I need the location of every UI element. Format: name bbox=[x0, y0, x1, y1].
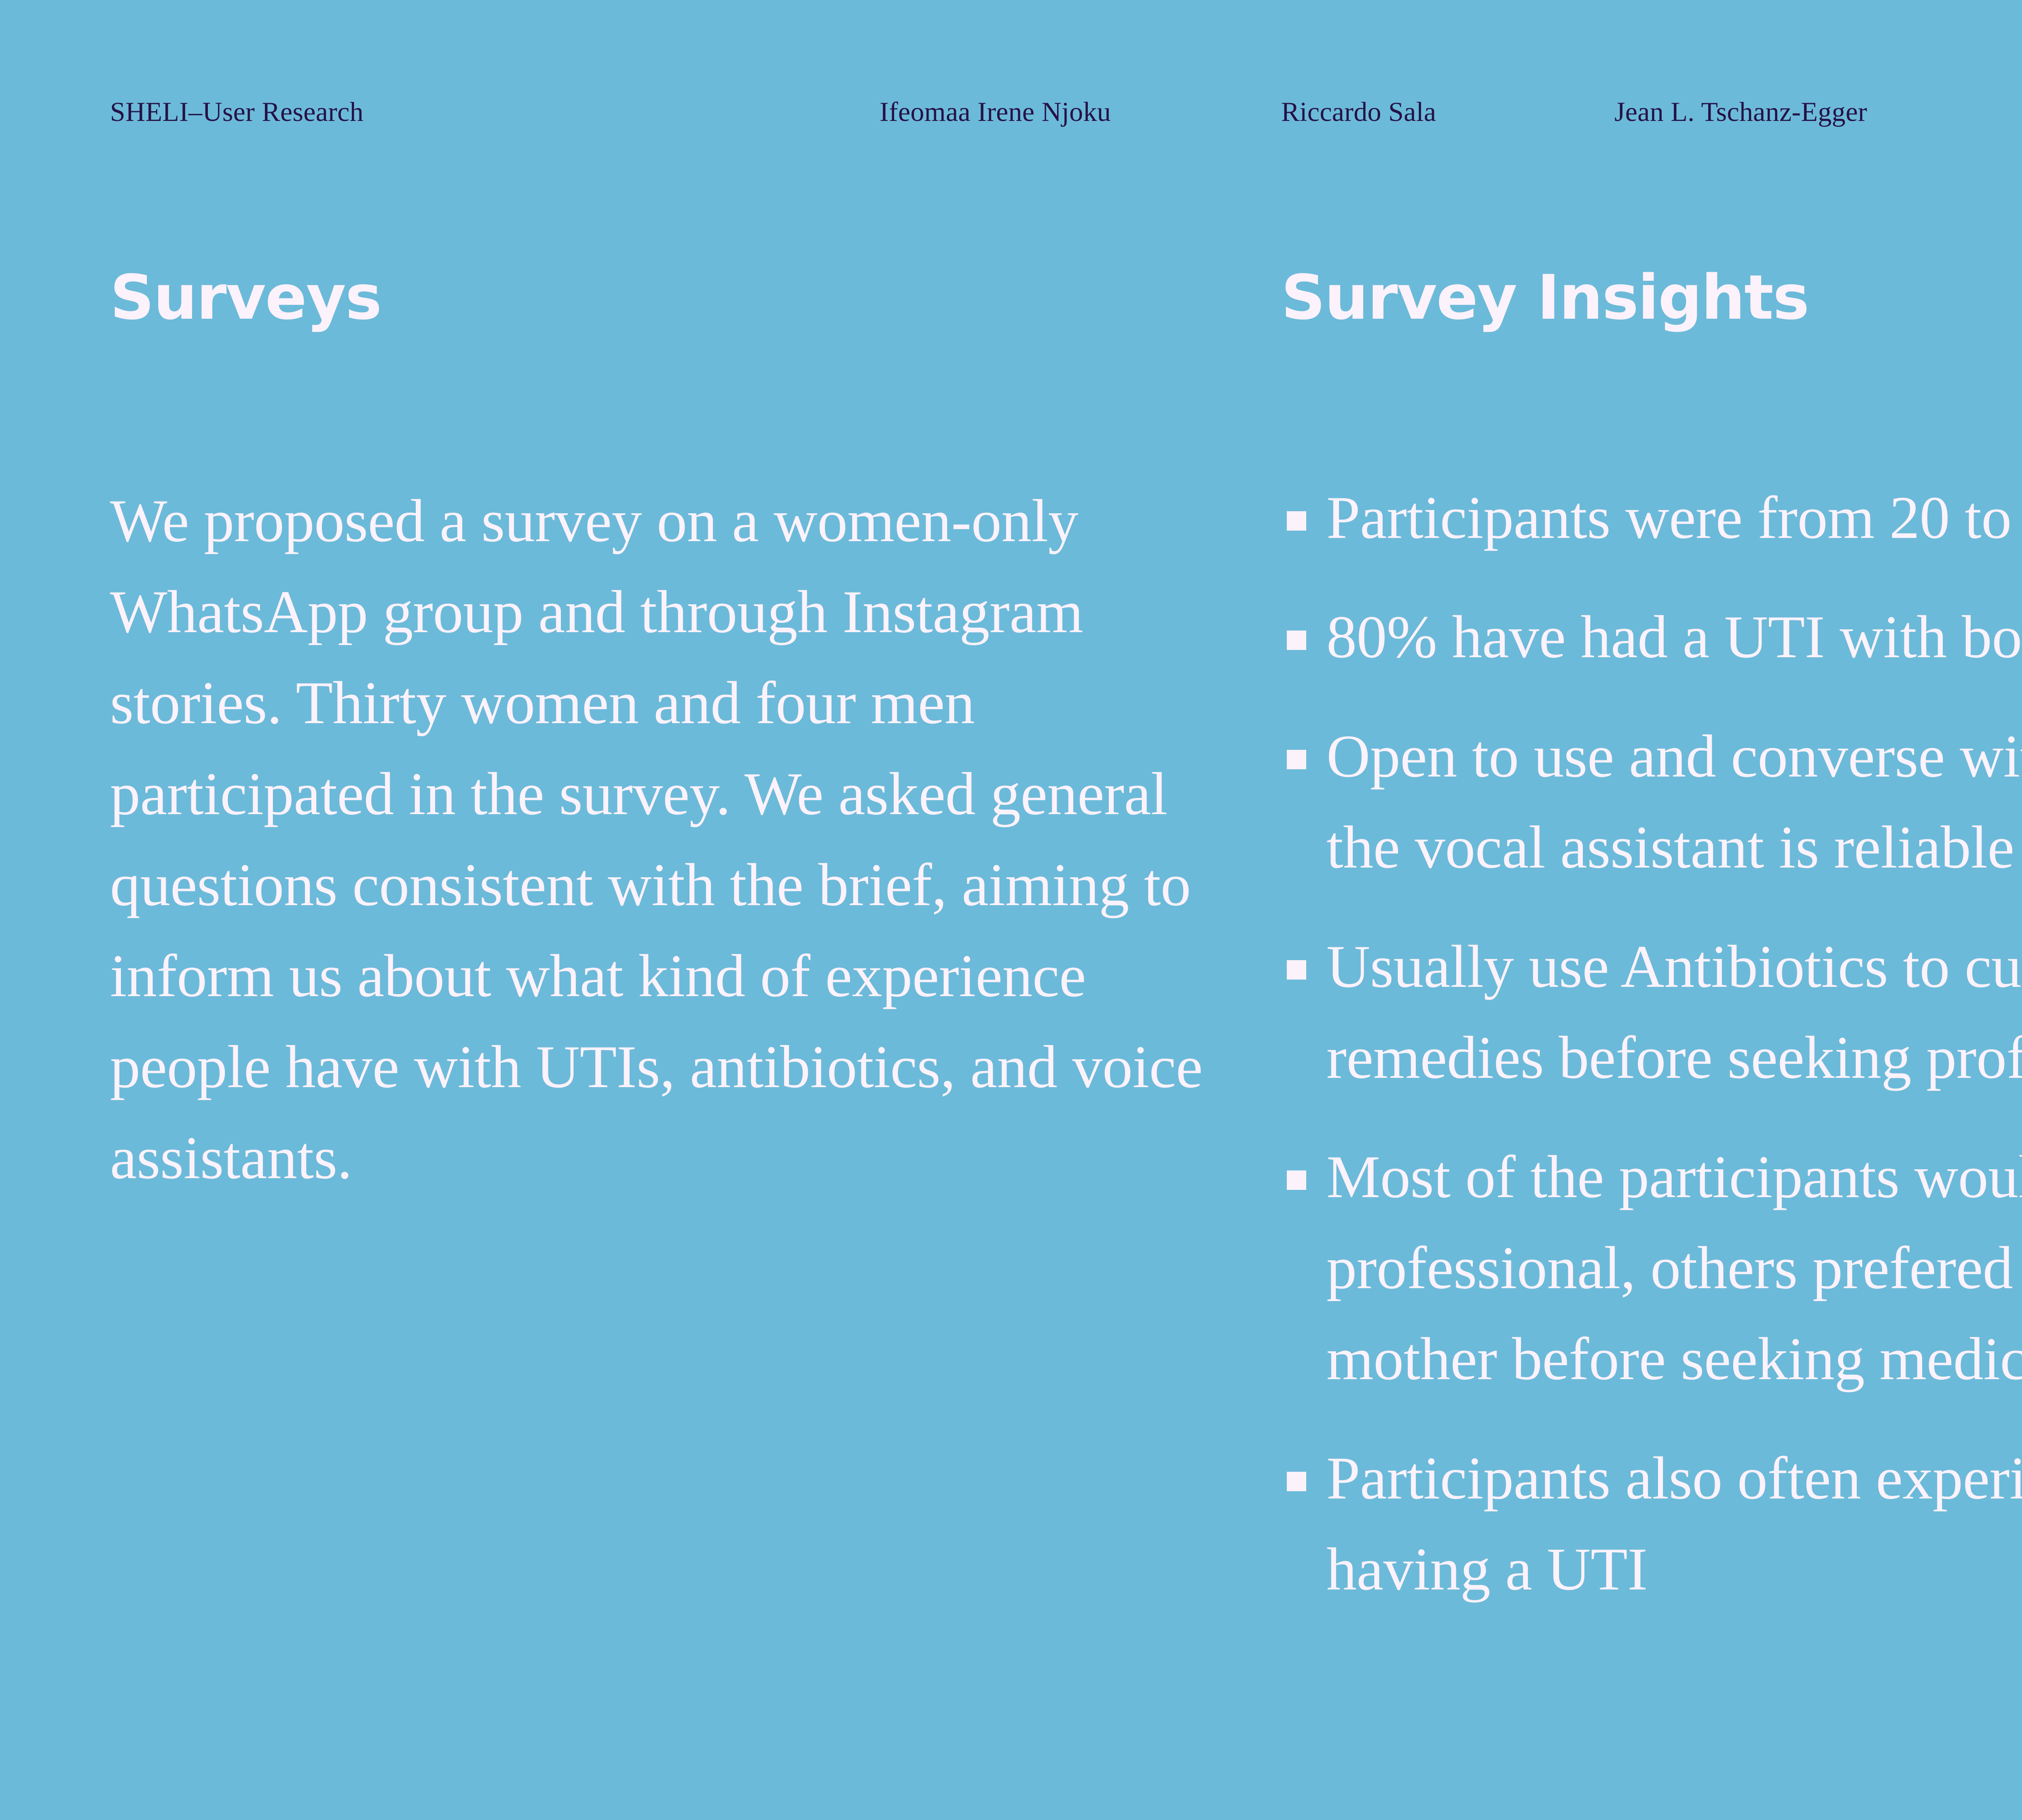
surveys-heading: Surveys bbox=[110, 267, 1234, 328]
survey-insights-heading: Survey Insights bbox=[1281, 267, 2022, 328]
list-item-text: Most of the participants would only disc… bbox=[1326, 1143, 2022, 1393]
list-item: Participants also often experience menta… bbox=[1281, 1433, 2022, 1615]
list-item: Most of the participants would only disc… bbox=[1281, 1132, 2022, 1405]
square-bullet-icon bbox=[1287, 1170, 1306, 1190]
slide-root: SHELI–User Research Ifeomaa Irene Njoku … bbox=[0, 0, 2022, 1820]
list-item: Participants were from 20 to 40 years ol… bbox=[1281, 472, 2022, 563]
square-bullet-icon bbox=[1287, 1472, 1306, 1491]
survey-insights-list: Participants were from 20 to 40 years ol… bbox=[1281, 472, 2022, 1615]
list-item: Usually use Antibiotics to cure their UT… bbox=[1281, 921, 2022, 1103]
list-item-text: Participants were from 20 to 40 years ol… bbox=[1326, 484, 2022, 551]
list-item: 80% have had a UTI with both bad experie… bbox=[1281, 592, 2022, 683]
list-item-text: Usually use Antibiotics to cure their UT… bbox=[1326, 933, 2022, 1091]
survey-insights-column: Survey Insights Participants were from 2… bbox=[1281, 267, 2022, 1615]
list-item-text: 80% have had a UTI with both bad experie… bbox=[1326, 603, 2022, 671]
surveys-paragraph: We proposed a survey on a women-only Wha… bbox=[110, 476, 1210, 1204]
list-item: Open to use and converse with a voice as… bbox=[1281, 711, 2022, 893]
slide-body: Surveys We proposed a survey on a women-… bbox=[0, 0, 2022, 1820]
square-bullet-icon bbox=[1287, 511, 1306, 531]
surveys-column: Surveys We proposed a survey on a women-… bbox=[110, 267, 1234, 1204]
square-bullet-icon bbox=[1287, 960, 1306, 980]
list-item-text: Open to use and converse with a voice as… bbox=[1326, 723, 2022, 881]
square-bullet-icon bbox=[1287, 631, 1306, 650]
list-item-text: Participants also often experience menta… bbox=[1326, 1445, 2022, 1603]
square-bullet-icon bbox=[1287, 750, 1306, 769]
